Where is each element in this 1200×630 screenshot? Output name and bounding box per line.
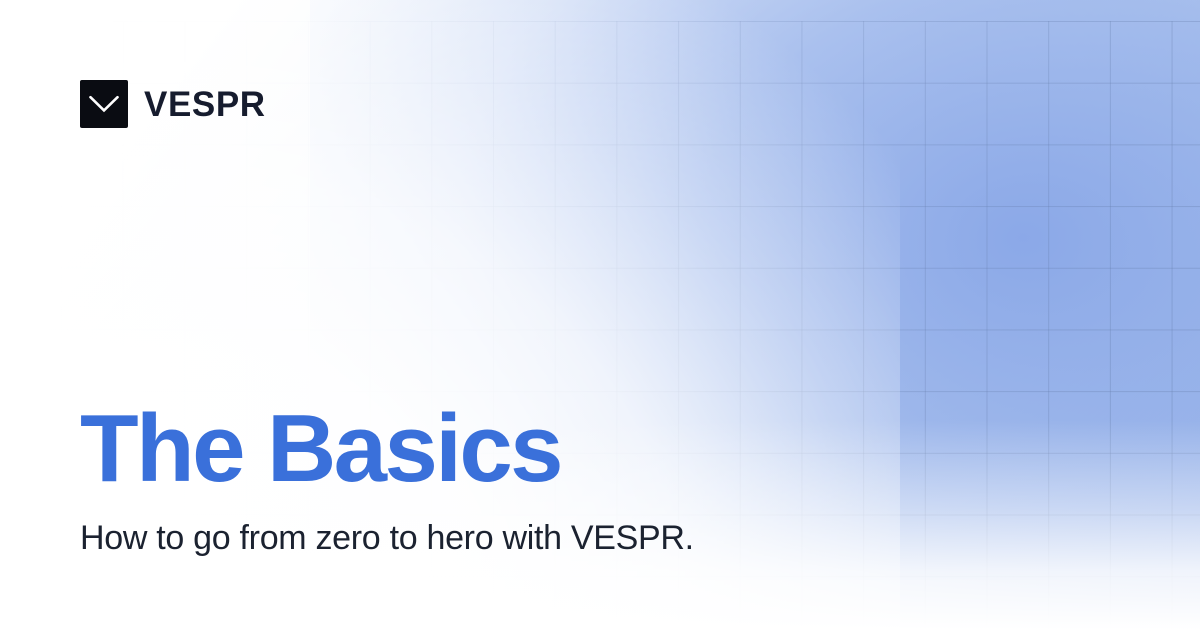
chevron-down-icon [89,95,119,113]
hero-text-block: The Basics How to go from zero to hero w… [80,401,1080,558]
page-title: The Basics [80,401,1080,497]
logo-tile [80,80,128,128]
page-subtitle: How to go from zero to hero with VESPR. [80,519,1080,558]
brand-lockup: VESPR [80,80,266,128]
og-banner: VESPR The Basics How to go from zero to … [0,0,1200,630]
brand-wordmark: VESPR [144,87,266,122]
